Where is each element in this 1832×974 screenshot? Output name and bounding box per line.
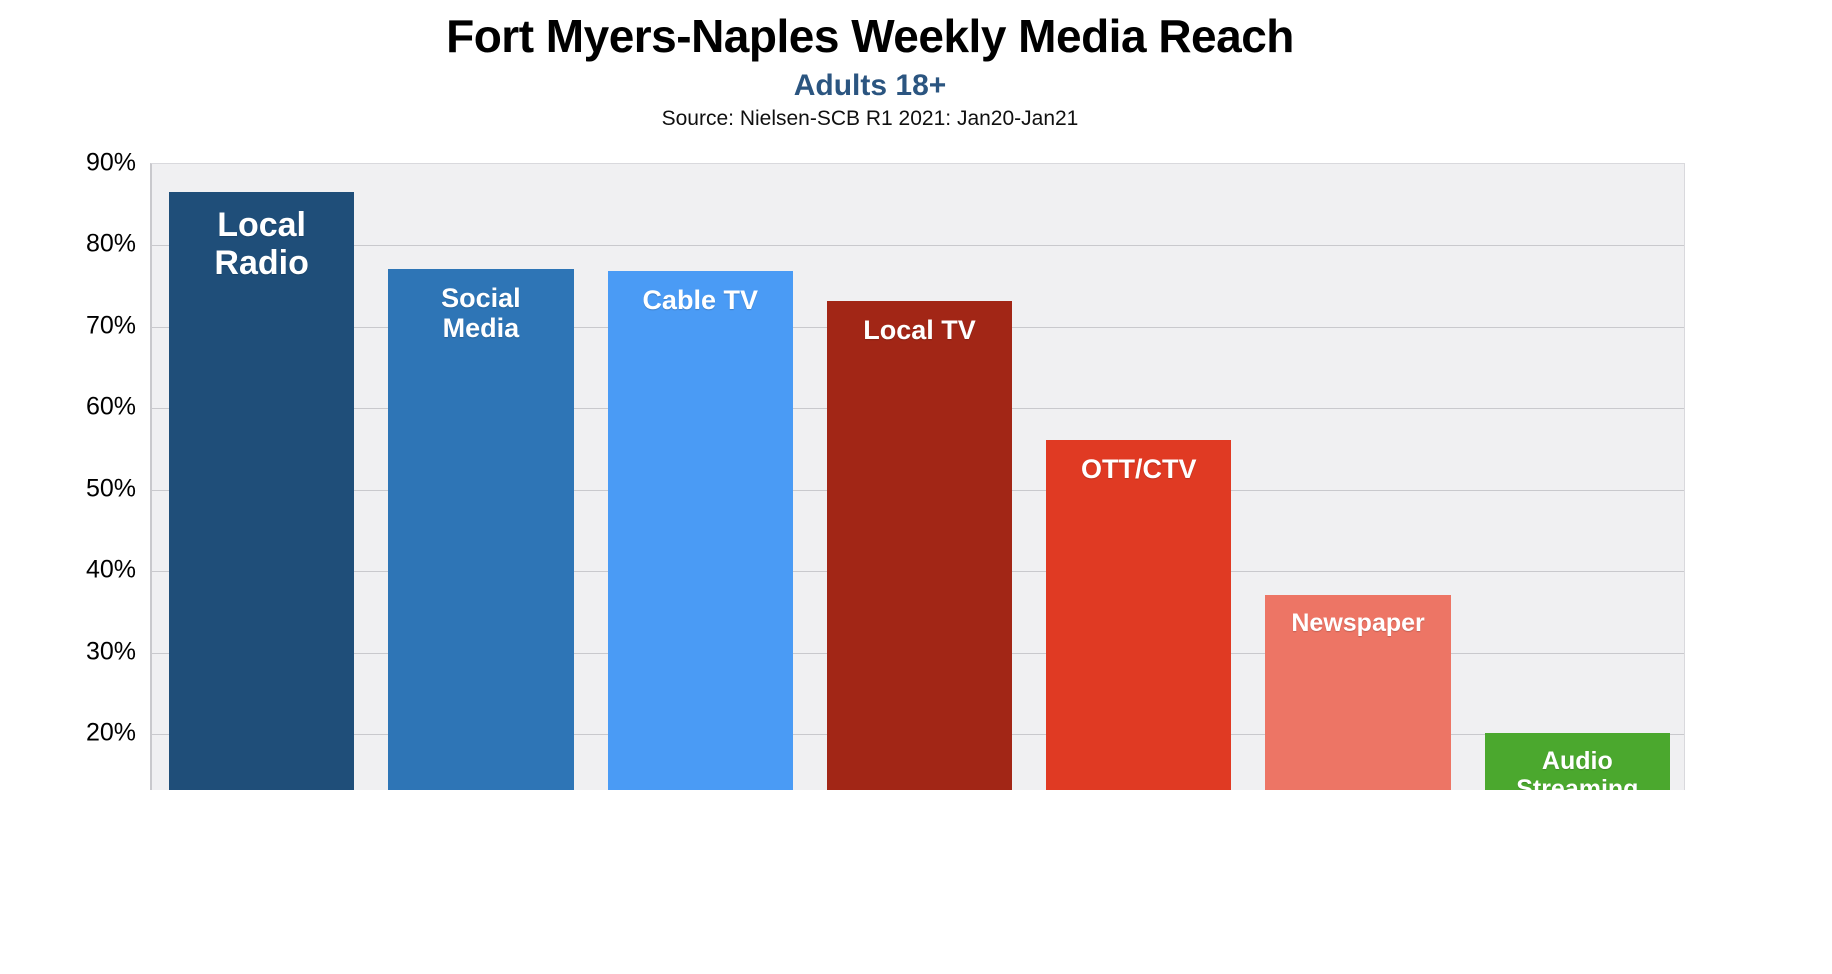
y-axis-tick-label: 70% bbox=[0, 311, 136, 340]
chart-source-note: Source: Nielsen-SCB R1 2021: Jan20-Jan21 bbox=[0, 108, 1740, 130]
plot-area: Local RadioSocial MediaCable TVLocal TVO… bbox=[150, 163, 1685, 790]
bar-label: Cable TV bbox=[642, 271, 758, 315]
bar-local-radio[interactable]: Local Radio bbox=[169, 192, 354, 791]
chart-subtitle: Adults 18+ bbox=[0, 70, 1740, 102]
bar-social-media[interactable]: Social Media bbox=[388, 269, 573, 790]
bar-audio-streaming[interactable]: Audio Streaming bbox=[1485, 733, 1670, 790]
bar-label: OTT/CTV bbox=[1081, 440, 1197, 484]
y-axis-tick-label: 60% bbox=[0, 393, 136, 422]
y-axis-tick-label: 50% bbox=[0, 474, 136, 503]
chart-header: Fort Myers-Naples Weekly Media Reach Adu… bbox=[0, 12, 1740, 130]
bar-label: Social Media bbox=[441, 269, 521, 343]
chart-title: Fort Myers-Naples Weekly Media Reach bbox=[0, 12, 1740, 60]
chart-container: Fort Myers-Naples Weekly Media Reach Adu… bbox=[0, 0, 1832, 974]
bar-label: Local Radio bbox=[214, 192, 308, 282]
bar-cable-tv[interactable]: Cable TV bbox=[608, 271, 793, 790]
bar-label: Newspaper bbox=[1291, 595, 1424, 637]
y-axis-tick-label: 30% bbox=[0, 637, 136, 666]
bar-newspaper[interactable]: Newspaper bbox=[1265, 595, 1450, 790]
bar-label: Audio Streaming bbox=[1516, 733, 1638, 790]
y-axis: 90%80%70%60%50%40%30%20% bbox=[0, 0, 136, 974]
y-axis-tick-label: 40% bbox=[0, 556, 136, 585]
bar-local-tv[interactable]: Local TV bbox=[827, 301, 1012, 790]
y-axis-tick-label: 90% bbox=[0, 149, 136, 178]
bars-layer: Local RadioSocial MediaCable TVLocal TVO… bbox=[152, 164, 1684, 790]
bar-label: Local TV bbox=[863, 301, 976, 345]
y-axis-tick-label: 80% bbox=[0, 230, 136, 259]
bar-ott-ctv[interactable]: OTT/CTV bbox=[1046, 440, 1231, 790]
y-axis-tick-label: 20% bbox=[0, 719, 136, 748]
